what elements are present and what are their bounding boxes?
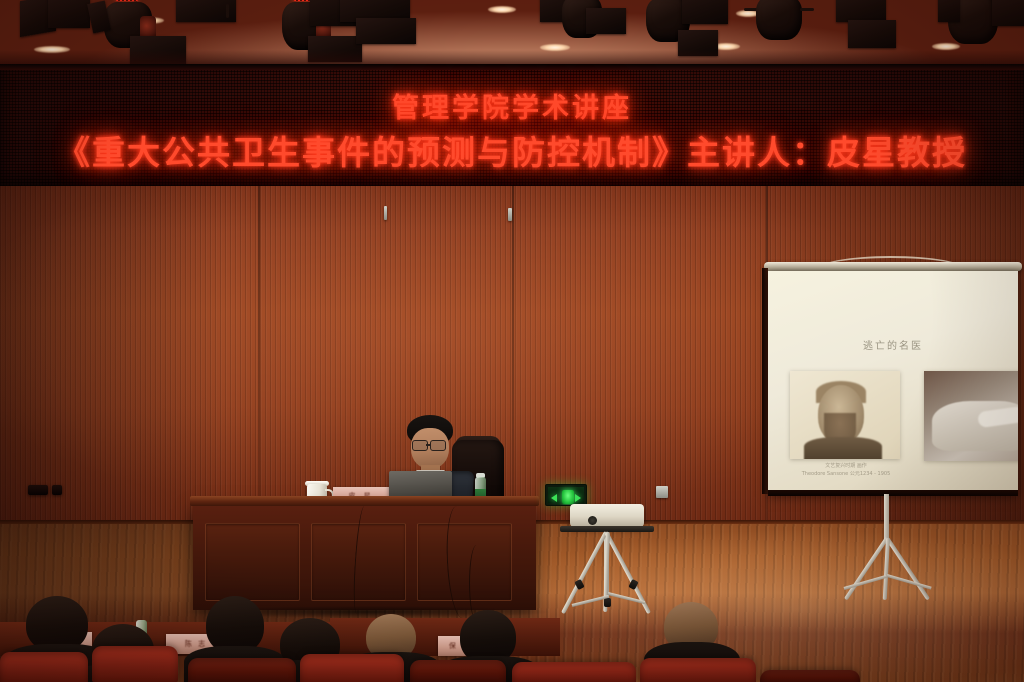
audience-seat <box>0 652 88 682</box>
wall-vent <box>508 208 512 221</box>
screen-tripod-leg <box>844 537 889 601</box>
audience-seat <box>300 654 404 682</box>
glasses-left-lens <box>412 440 428 451</box>
slide-caption-line2: Theodore Sansone 公元1234 - 1905 <box>790 471 902 479</box>
screen-tripod-leg <box>883 538 890 600</box>
projector-lens-icon <box>588 516 597 525</box>
wall-seam <box>258 186 260 520</box>
screen-roller-bar <box>764 262 1022 271</box>
slide-caption: 文艺复兴时期 画作 Theodore Sansone 公元1234 - 1905 <box>790 463 902 478</box>
led-banner-line1: 管理学院学术讲座 <box>0 86 1024 125</box>
podium-top-edge <box>190 496 539 506</box>
led-banner-line2: 《重大公共卫生事件的预测与防控机制》主讲人：皮星教授 <box>0 126 1024 174</box>
slide-caption-line1: 文艺复兴时期 画作 <box>790 463 902 471</box>
wall-speaker <box>28 485 48 495</box>
screen-tripod-brace <box>887 574 932 590</box>
led-banner-top-edge <box>0 64 1024 70</box>
screen-tripod-stand <box>756 494 1024 612</box>
audience-area: 李 世 华 陈 志 保 一 <box>0 596 1024 682</box>
portrait-body <box>804 437 882 459</box>
slide-image-bed <box>924 371 1018 461</box>
downlight <box>488 6 516 13</box>
projection-screen: 逃亡的名医 文艺复兴时期 画作 Theodore Sansone 公元1234 … <box>756 262 1024 612</box>
ceiling <box>0 0 1024 68</box>
auditorium-photo: 管理学院学术讲座 《重大公共卫生事件的预测与防控机制》主讲人：皮星教授 逃亡的名… <box>0 0 1024 682</box>
wall-vent <box>384 206 387 220</box>
audience-seat <box>640 658 756 682</box>
glasses-right-lens <box>430 440 446 451</box>
screen-canvas: 逃亡的名医 文艺复兴时期 画作 Theodore Sansone 公元1234 … <box>768 271 1018 494</box>
podium-panel <box>205 523 300 601</box>
wall-vent <box>656 486 668 498</box>
led-banner: 管理学院学术讲座 《重大公共卫生事件的预测与防控机制》主讲人：皮星教授 <box>0 64 1024 189</box>
audience-seat <box>512 662 636 682</box>
slide-image-portrait <box>790 371 900 459</box>
glasses-bridge <box>426 444 430 446</box>
audience-seat <box>760 670 860 682</box>
audience-seat <box>188 658 296 682</box>
screen-tripod-brace <box>844 575 887 590</box>
downlight <box>932 43 960 50</box>
wall-seam <box>512 186 514 520</box>
audience-seat <box>92 646 178 682</box>
screen-tripod-leg <box>885 537 930 601</box>
screen-tripod-post <box>884 494 889 540</box>
slide-title: 逃亡的名医 <box>768 337 1018 352</box>
projector-body <box>570 504 644 527</box>
wall-speaker <box>52 485 62 495</box>
audience-seat <box>410 660 506 682</box>
